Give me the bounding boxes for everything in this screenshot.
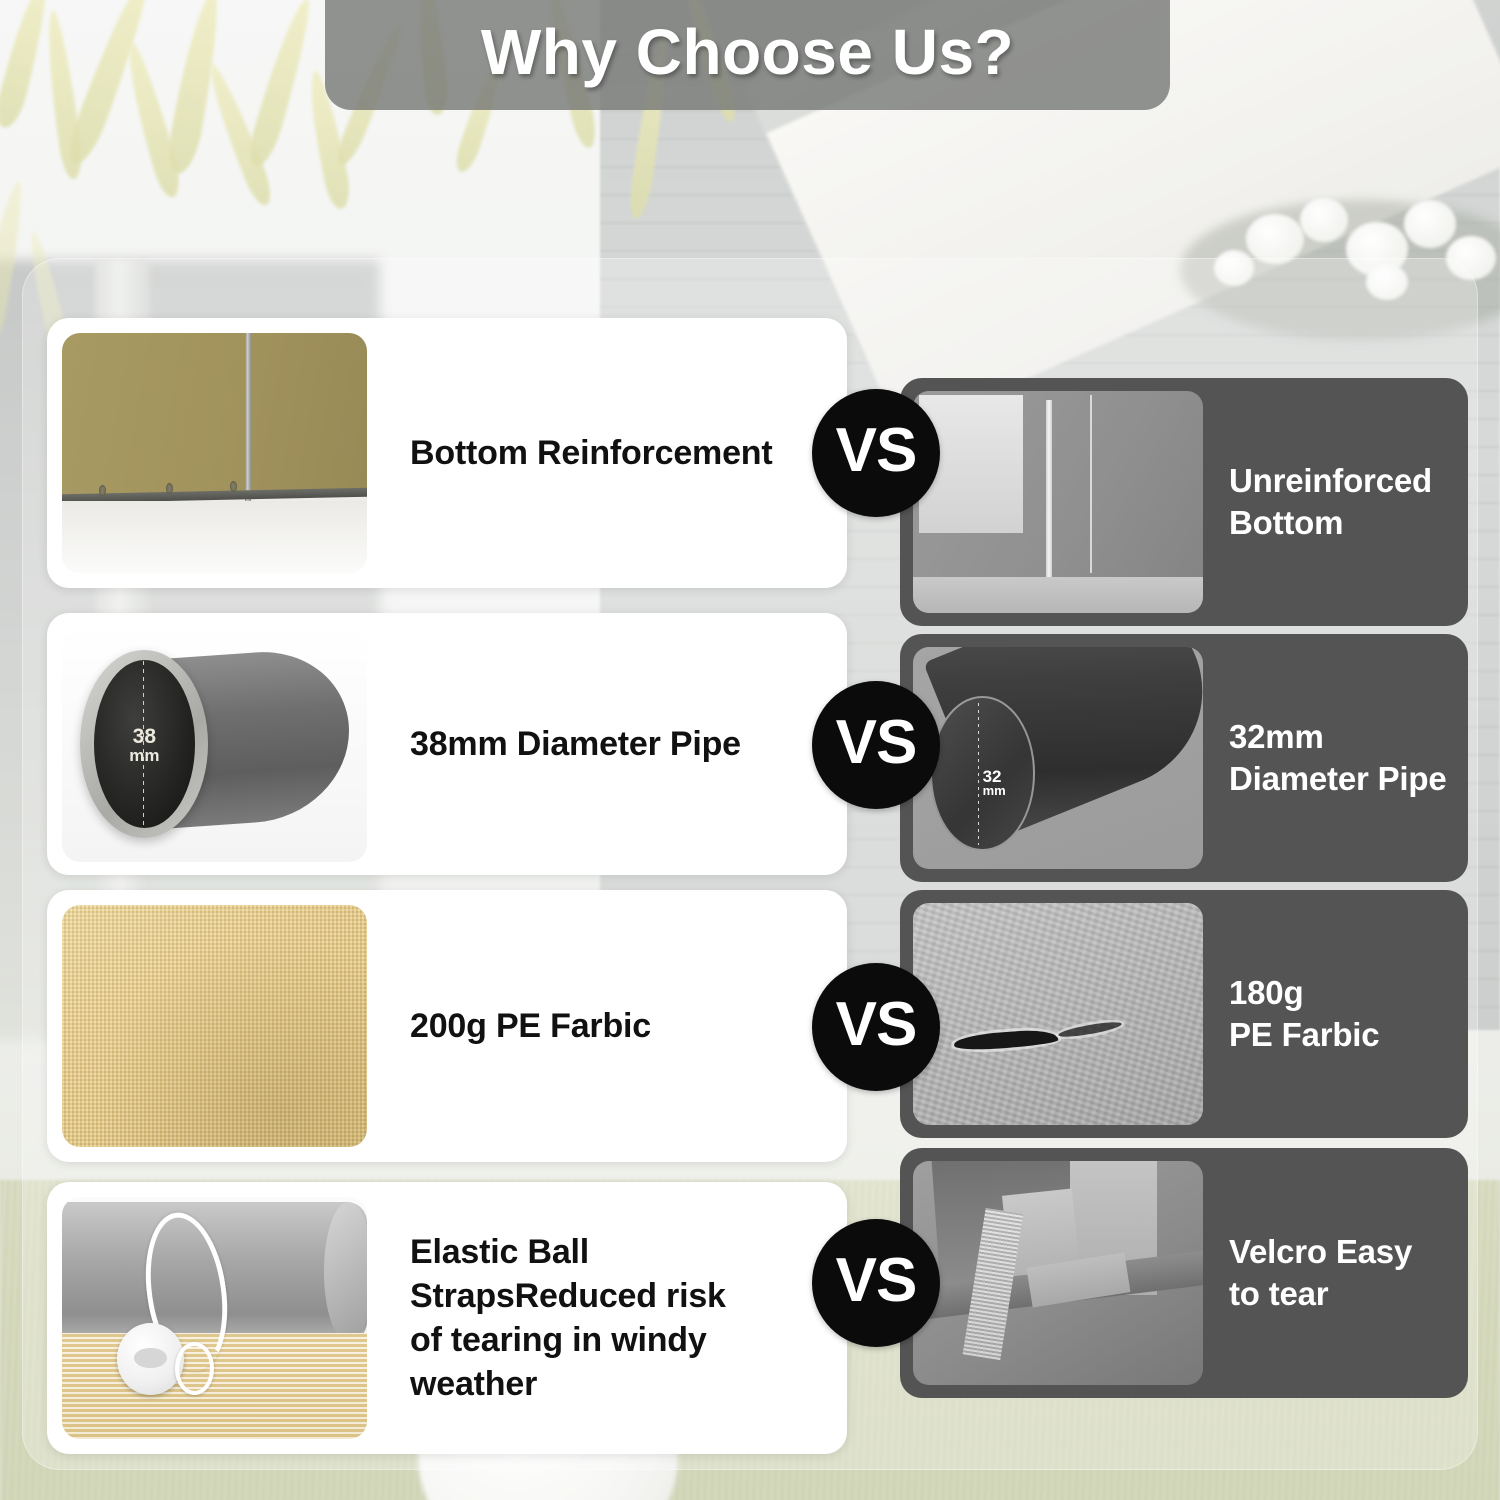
vs-badge: VS bbox=[812, 1219, 940, 1347]
38mm-pipe-photo: 38mm bbox=[62, 626, 367, 862]
velcro-strips-photo bbox=[913, 1161, 1203, 1385]
con-card[interactable]: 180gPE Farbic bbox=[900, 890, 1468, 1138]
con-label: UnreinforcedBottom bbox=[1203, 460, 1440, 544]
con-card[interactable]: 32mm 32mmDiameter Pipe bbox=[900, 634, 1468, 882]
vs-badge: VS bbox=[812, 963, 940, 1091]
vs-label: VS bbox=[836, 712, 917, 778]
pro-card[interactable]: Bottom Reinforcement bbox=[47, 318, 847, 588]
pro-card[interactable]: 200g PE Farbic bbox=[47, 890, 847, 1162]
pro-card[interactable]: 38mm 38mm Diameter Pipe bbox=[47, 613, 847, 875]
32mm-pipe-photo: 32mm bbox=[913, 647, 1203, 869]
torn-gray-fabric-photo bbox=[913, 903, 1203, 1125]
con-label: Velcro Easyto tear bbox=[1203, 1231, 1420, 1315]
page-title: Why Choose Us? bbox=[481, 20, 1014, 90]
vs-badge: VS bbox=[812, 681, 940, 809]
unreinforced-bottom-photo bbox=[913, 391, 1203, 613]
pro-label: 200g PE Farbic bbox=[367, 1004, 661, 1048]
pro-label: Elastic BallStrapsReduced riskof tearing… bbox=[367, 1230, 847, 1407]
pro-label: 38mm Diameter Pipe bbox=[367, 722, 751, 766]
title-banner: Why Choose Us? bbox=[325, 0, 1170, 110]
vs-label: VS bbox=[836, 994, 917, 1060]
pro-card[interactable]: Elastic BallStrapsReduced riskof tearing… bbox=[47, 1182, 847, 1454]
elastic-ball-strap-photo bbox=[62, 1197, 367, 1439]
con-card[interactable]: UnreinforcedBottom bbox=[900, 378, 1468, 626]
pipe-dimension-label: 32mm bbox=[983, 769, 1006, 797]
pro-label: Bottom Reinforcement bbox=[367, 431, 782, 475]
vs-label: VS bbox=[836, 420, 917, 486]
vs-badge: VS bbox=[812, 389, 940, 517]
gold-pe-fabric-swatch-photo bbox=[62, 905, 367, 1147]
con-label: 180gPE Farbic bbox=[1203, 972, 1387, 1056]
vs-label: VS bbox=[836, 1250, 917, 1316]
con-card[interactable]: Velcro Easyto tear bbox=[900, 1148, 1468, 1398]
con-label: 32mmDiameter Pipe bbox=[1203, 716, 1455, 800]
reinforced-bottom-photo bbox=[62, 333, 367, 573]
pipe-dimension-label: 38mm bbox=[108, 727, 181, 764]
